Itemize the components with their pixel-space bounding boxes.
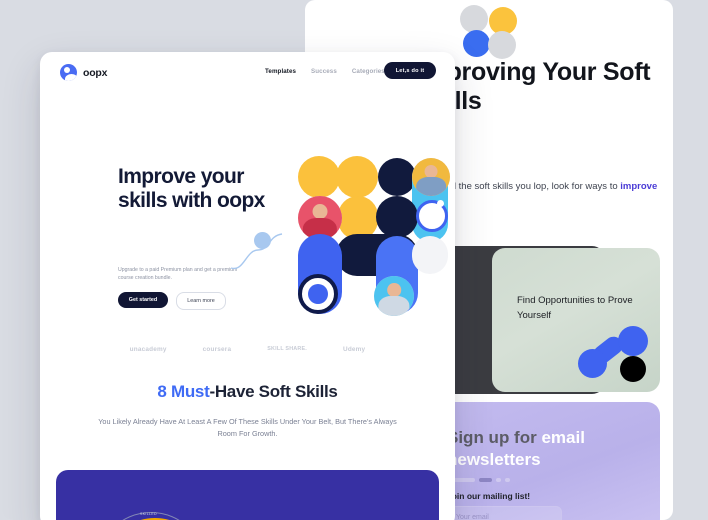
partner-logos: unacademy coursera SKILL SHARE. Udemy — [40, 336, 455, 362]
oopx-avatar-icon — [60, 64, 77, 81]
circle-yellow-1-icon — [298, 156, 340, 198]
back-panel-body: identified the soft skills you lop, look… — [418, 180, 668, 208]
circle-yellow-2-icon — [336, 156, 378, 198]
skills-band: BEGINNER AVERAGE SKILLED SPECIALIST EXPE… — [56, 470, 439, 520]
partner-logo-coursera: coursera — [203, 346, 232, 353]
newsletter-title-grey: Sign up for — [447, 428, 537, 447]
circle-navy-1-icon — [378, 158, 416, 196]
nav-item-categories[interactable]: Categories — [352, 68, 385, 75]
nav-item-templates[interactable]: Templates — [265, 68, 296, 75]
ring-dot-icon — [437, 200, 444, 207]
partner-logo-udemy: Udemy — [343, 346, 365, 353]
hero-illustration — [298, 156, 455, 318]
dash-3 — [496, 478, 501, 482]
get-started-button[interactable]: Get started — [118, 292, 168, 308]
section-subtitle: You Likely Already Have At Least A Few O… — [98, 416, 398, 440]
section-title-rest: -Have Soft Skills — [209, 382, 337, 401]
partner-logo-unacademy: unacademy — [130, 346, 167, 353]
newsletter-progress-dashes — [447, 478, 510, 482]
blue-circle-top-icon — [618, 326, 648, 356]
avatar-person-3 — [374, 276, 414, 316]
newsletter-card[interactable]: Sign up for email newsletters Join our m… — [425, 402, 660, 520]
gauge-tick-skilled: SKILLED — [140, 512, 157, 516]
brand-name: oopx — [83, 67, 107, 79]
blue-circle-bottom-icon — [578, 349, 607, 378]
screenshot-stage: Improving Your Soft Skills identified th… — [0, 0, 708, 520]
section-title-accent: 8 Must — [157, 382, 209, 401]
partner-logo-skillshare: SKILL SHARE. — [267, 346, 307, 352]
avatar-person-1 — [412, 158, 450, 196]
opportunities-card[interactable]: Find Opportunities to Prove Yourself — [492, 248, 660, 392]
newsletter-email-input[interactable]: Your email — [447, 506, 562, 520]
learn-more-button[interactable]: Learn more — [176, 292, 226, 310]
hero-subtitle: Upgrade to a paid Premium plan and get a… — [118, 266, 238, 282]
opportunities-card-text: Find Opportunities to Prove Yourself — [517, 293, 637, 323]
hero-buttons: Get started Learn more — [118, 292, 226, 310]
back-panel-body-line2: lop, look for ways to — [534, 181, 621, 192]
black-circle-icon — [620, 356, 646, 382]
ring-navy-center-icon — [308, 284, 328, 304]
newsletter-title: Sign up for email newsletters — [447, 427, 647, 471]
foreground-landing-page: oopx Templates Success Categories Pricin… — [40, 52, 455, 520]
hero-title: Improve your skills with oopx — [118, 165, 288, 212]
navbar: oopx Templates Success Categories Pricin… — [40, 52, 455, 94]
nav-cta-button[interactable]: Let,s do it — [384, 62, 436, 79]
newsletter-join-label: Join our mailing list! — [447, 491, 530, 501]
circle-navy-2-icon — [376, 196, 418, 238]
circle-white-2-icon — [412, 236, 448, 272]
back-panel-title: Improving Your Soft Skills — [418, 58, 668, 116]
dot-blue-icon — [463, 30, 490, 57]
brand-logo[interactable]: oopx — [60, 64, 107, 81]
dash-4 — [505, 478, 510, 482]
dot-grey-1-icon — [460, 5, 488, 33]
skill-gauge: BEGINNER AVERAGE SKILLED SPECIALIST EXPE… — [84, 494, 216, 520]
nav-item-success[interactable]: Success — [311, 68, 337, 75]
back-panel-body-bold: improve — [620, 181, 657, 192]
squiggle-end-dot-icon — [254, 232, 271, 249]
section-title: 8 Must-Have Soft Skills — [40, 382, 455, 402]
dash-2 — [479, 478, 492, 482]
dot-grey-2-icon — [488, 31, 516, 59]
decorative-dots-cluster — [460, 5, 522, 61]
opportunities-card-graphic — [578, 324, 648, 382]
